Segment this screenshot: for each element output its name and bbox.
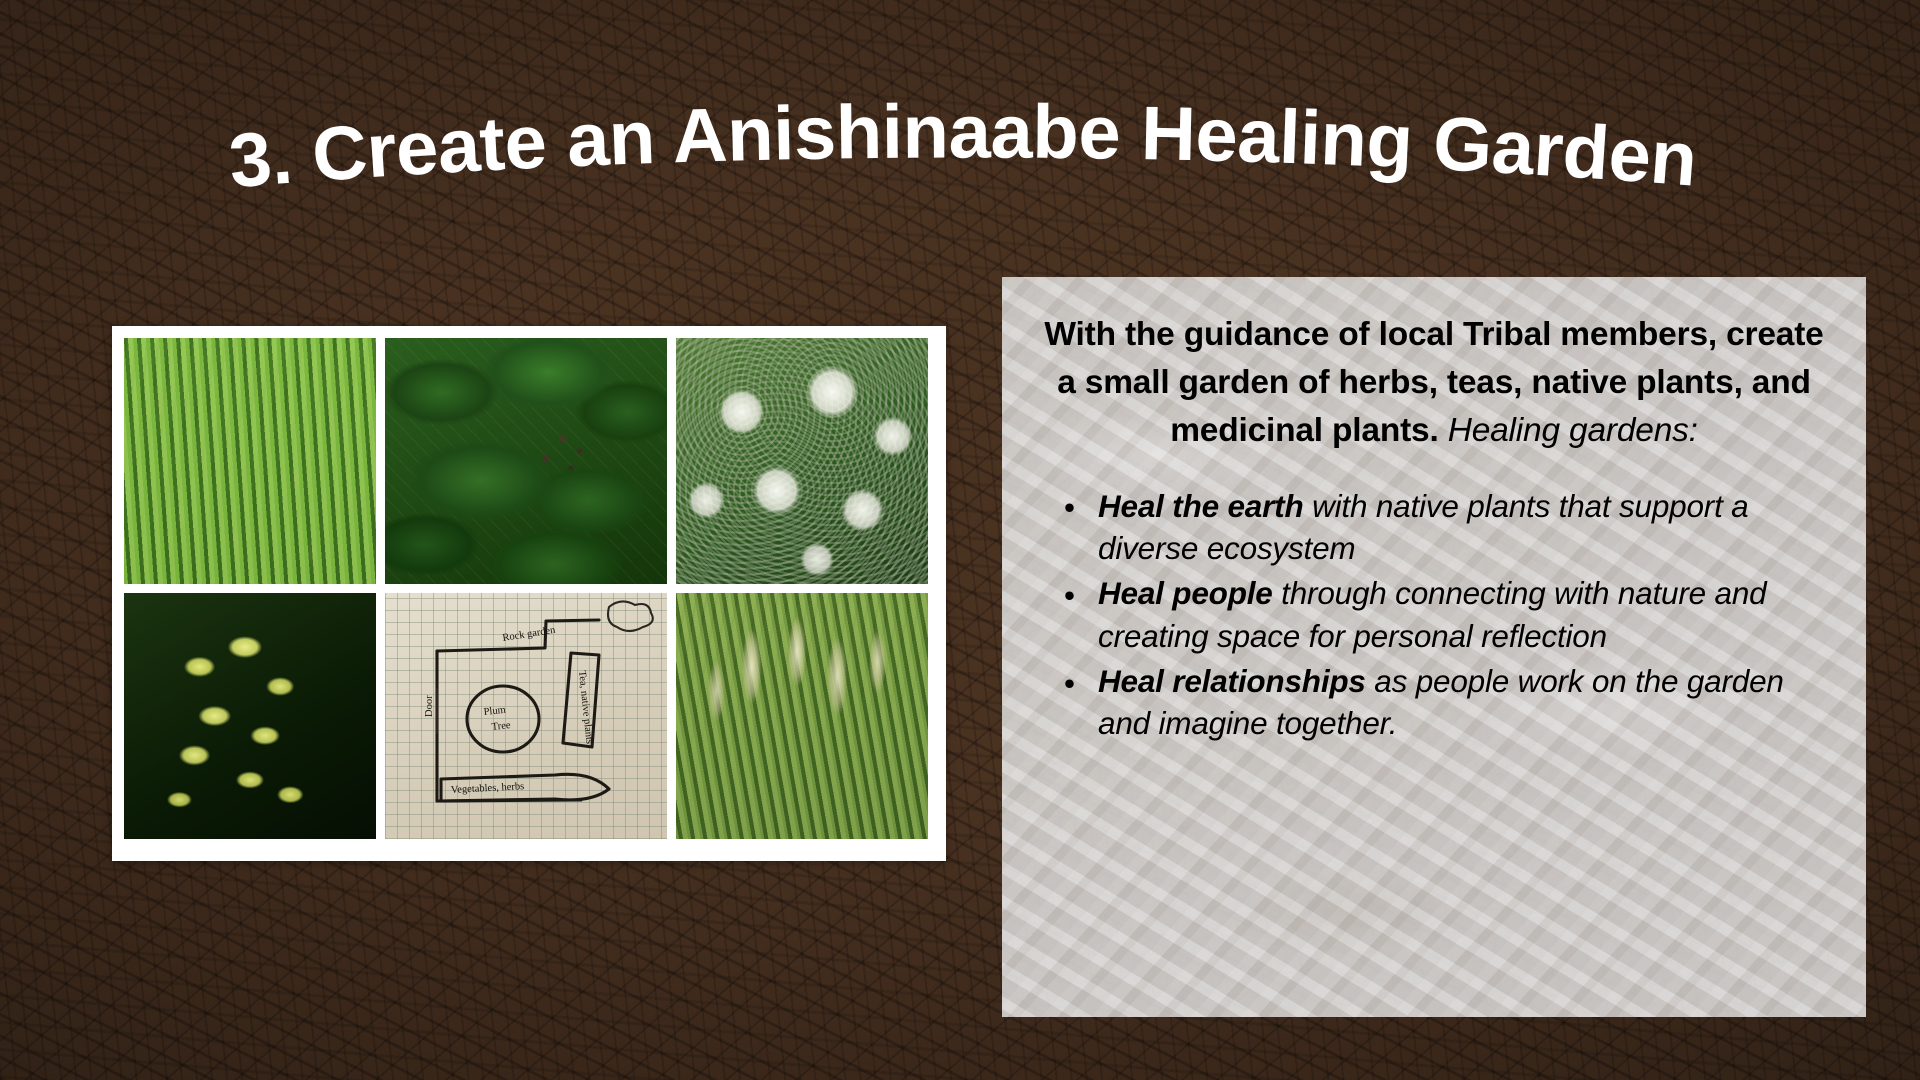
bullet-bold-lead: Heal people <box>1098 575 1273 611</box>
sketch-label-vegetables-herbs: Vegetables, herbs <box>451 781 525 796</box>
photo-sedge-grass <box>124 338 376 584</box>
photo-garden-sketch: Door Rock garden Plum Tree Tea, native p… <box>385 593 667 839</box>
photo-prairie-grass <box>676 593 928 839</box>
list-item: •Heal the earth with native plants that … <box>1046 485 1832 570</box>
info-panel-content: With the guidance of local Tribal member… <box>1036 311 1832 745</box>
bullet-bold-lead: Heal the earth <box>1098 488 1304 524</box>
photo-shrub-leaves <box>385 338 667 584</box>
healing-benefits-list: •Heal the earth with native plants that … <box>1036 485 1832 745</box>
bullet-marker: • <box>1064 574 1075 616</box>
lead-bold-text: With the guidance of local Tribal member… <box>1044 316 1823 449</box>
bullet-marker: • <box>1064 662 1075 704</box>
garden-sketch-drawing: Door Rock garden Plum Tree Tea, native p… <box>385 593 667 839</box>
photo-collage: Door Rock garden Plum Tree Tea, native p… <box>112 326 946 861</box>
photo-tobacco-flowers <box>124 593 376 839</box>
photo-yarrow-flowers <box>676 338 928 584</box>
sketch-label-door: Door <box>424 695 435 717</box>
bullet-marker: • <box>1064 486 1075 528</box>
list-item: •Heal people through connecting with nat… <box>1046 572 1832 657</box>
lead-italic-text: Healing gardens: <box>1448 412 1698 449</box>
collage-grid: Door Rock garden Plum Tree Tea, native p… <box>124 338 934 849</box>
sketch-label-plum-tree-line2: Tree <box>491 720 511 733</box>
lead-paragraph: With the guidance of local Tribal member… <box>1036 311 1832 455</box>
sketch-label-plum-tree-line1: Plum <box>483 705 506 718</box>
slide-canvas: 3. Create an Anishinaabe Healing Garden <box>0 0 1920 1080</box>
list-item: •Heal relationships as people work on th… <box>1046 660 1832 745</box>
bullet-bold-lead: Heal relationships <box>1098 663 1366 699</box>
info-panel: With the guidance of local Tribal member… <box>1002 277 1866 1017</box>
sketch-label-tea-native-plants: Tea, native plants <box>576 670 595 744</box>
sketch-label-rock-garden: Rock garden <box>502 625 557 644</box>
